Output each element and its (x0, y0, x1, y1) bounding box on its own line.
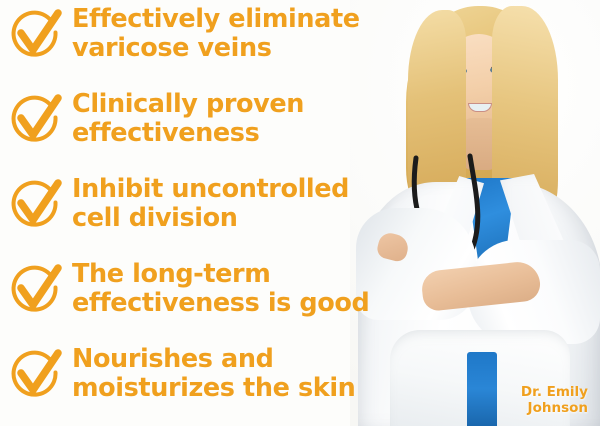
doctor-name-line2: Johnson (521, 400, 588, 416)
benefit-text: The long-term effectiveness is good (72, 259, 470, 318)
coat-lapel-right (500, 174, 574, 302)
benefit-text: Nourishes and moisturizes the skin (72, 344, 470, 403)
list-item: Effectively eliminate varicose veins (0, 4, 470, 89)
promo-poster: Effectively eliminate varicose veins Cli… (0, 0, 600, 426)
list-item: Inhibit uncontrolled cell division (0, 174, 470, 259)
check-circle-icon (8, 263, 62, 317)
check-circle-icon (8, 8, 62, 62)
check-circle-icon (8, 93, 62, 147)
benefit-list: Effectively eliminate varicose veins Cli… (0, 0, 470, 426)
list-item: The long-term effectiveness is good (0, 259, 470, 344)
list-item: Clinically proven effectiveness (0, 89, 470, 174)
list-item: Nourishes and moisturizes the skin (0, 344, 470, 426)
right-eye (490, 67, 499, 73)
benefit-text: Inhibit uncontrolled cell division (72, 174, 470, 233)
scrub-bottom (467, 352, 497, 426)
mouth (468, 103, 492, 112)
check-circle-icon (8, 178, 62, 232)
check-circle-icon (8, 348, 62, 402)
hair-front-right (492, 6, 558, 242)
benefit-text: Effectively eliminate varicose veins (72, 4, 470, 63)
scrub-top (462, 178, 520, 262)
doctor-name-caption: Dr. Emily Johnson (521, 384, 588, 416)
right-sleeve (468, 240, 600, 344)
benefit-text: Clinically proven effectiveness (72, 89, 470, 148)
doctor-name-line1: Dr. Emily (521, 384, 588, 400)
